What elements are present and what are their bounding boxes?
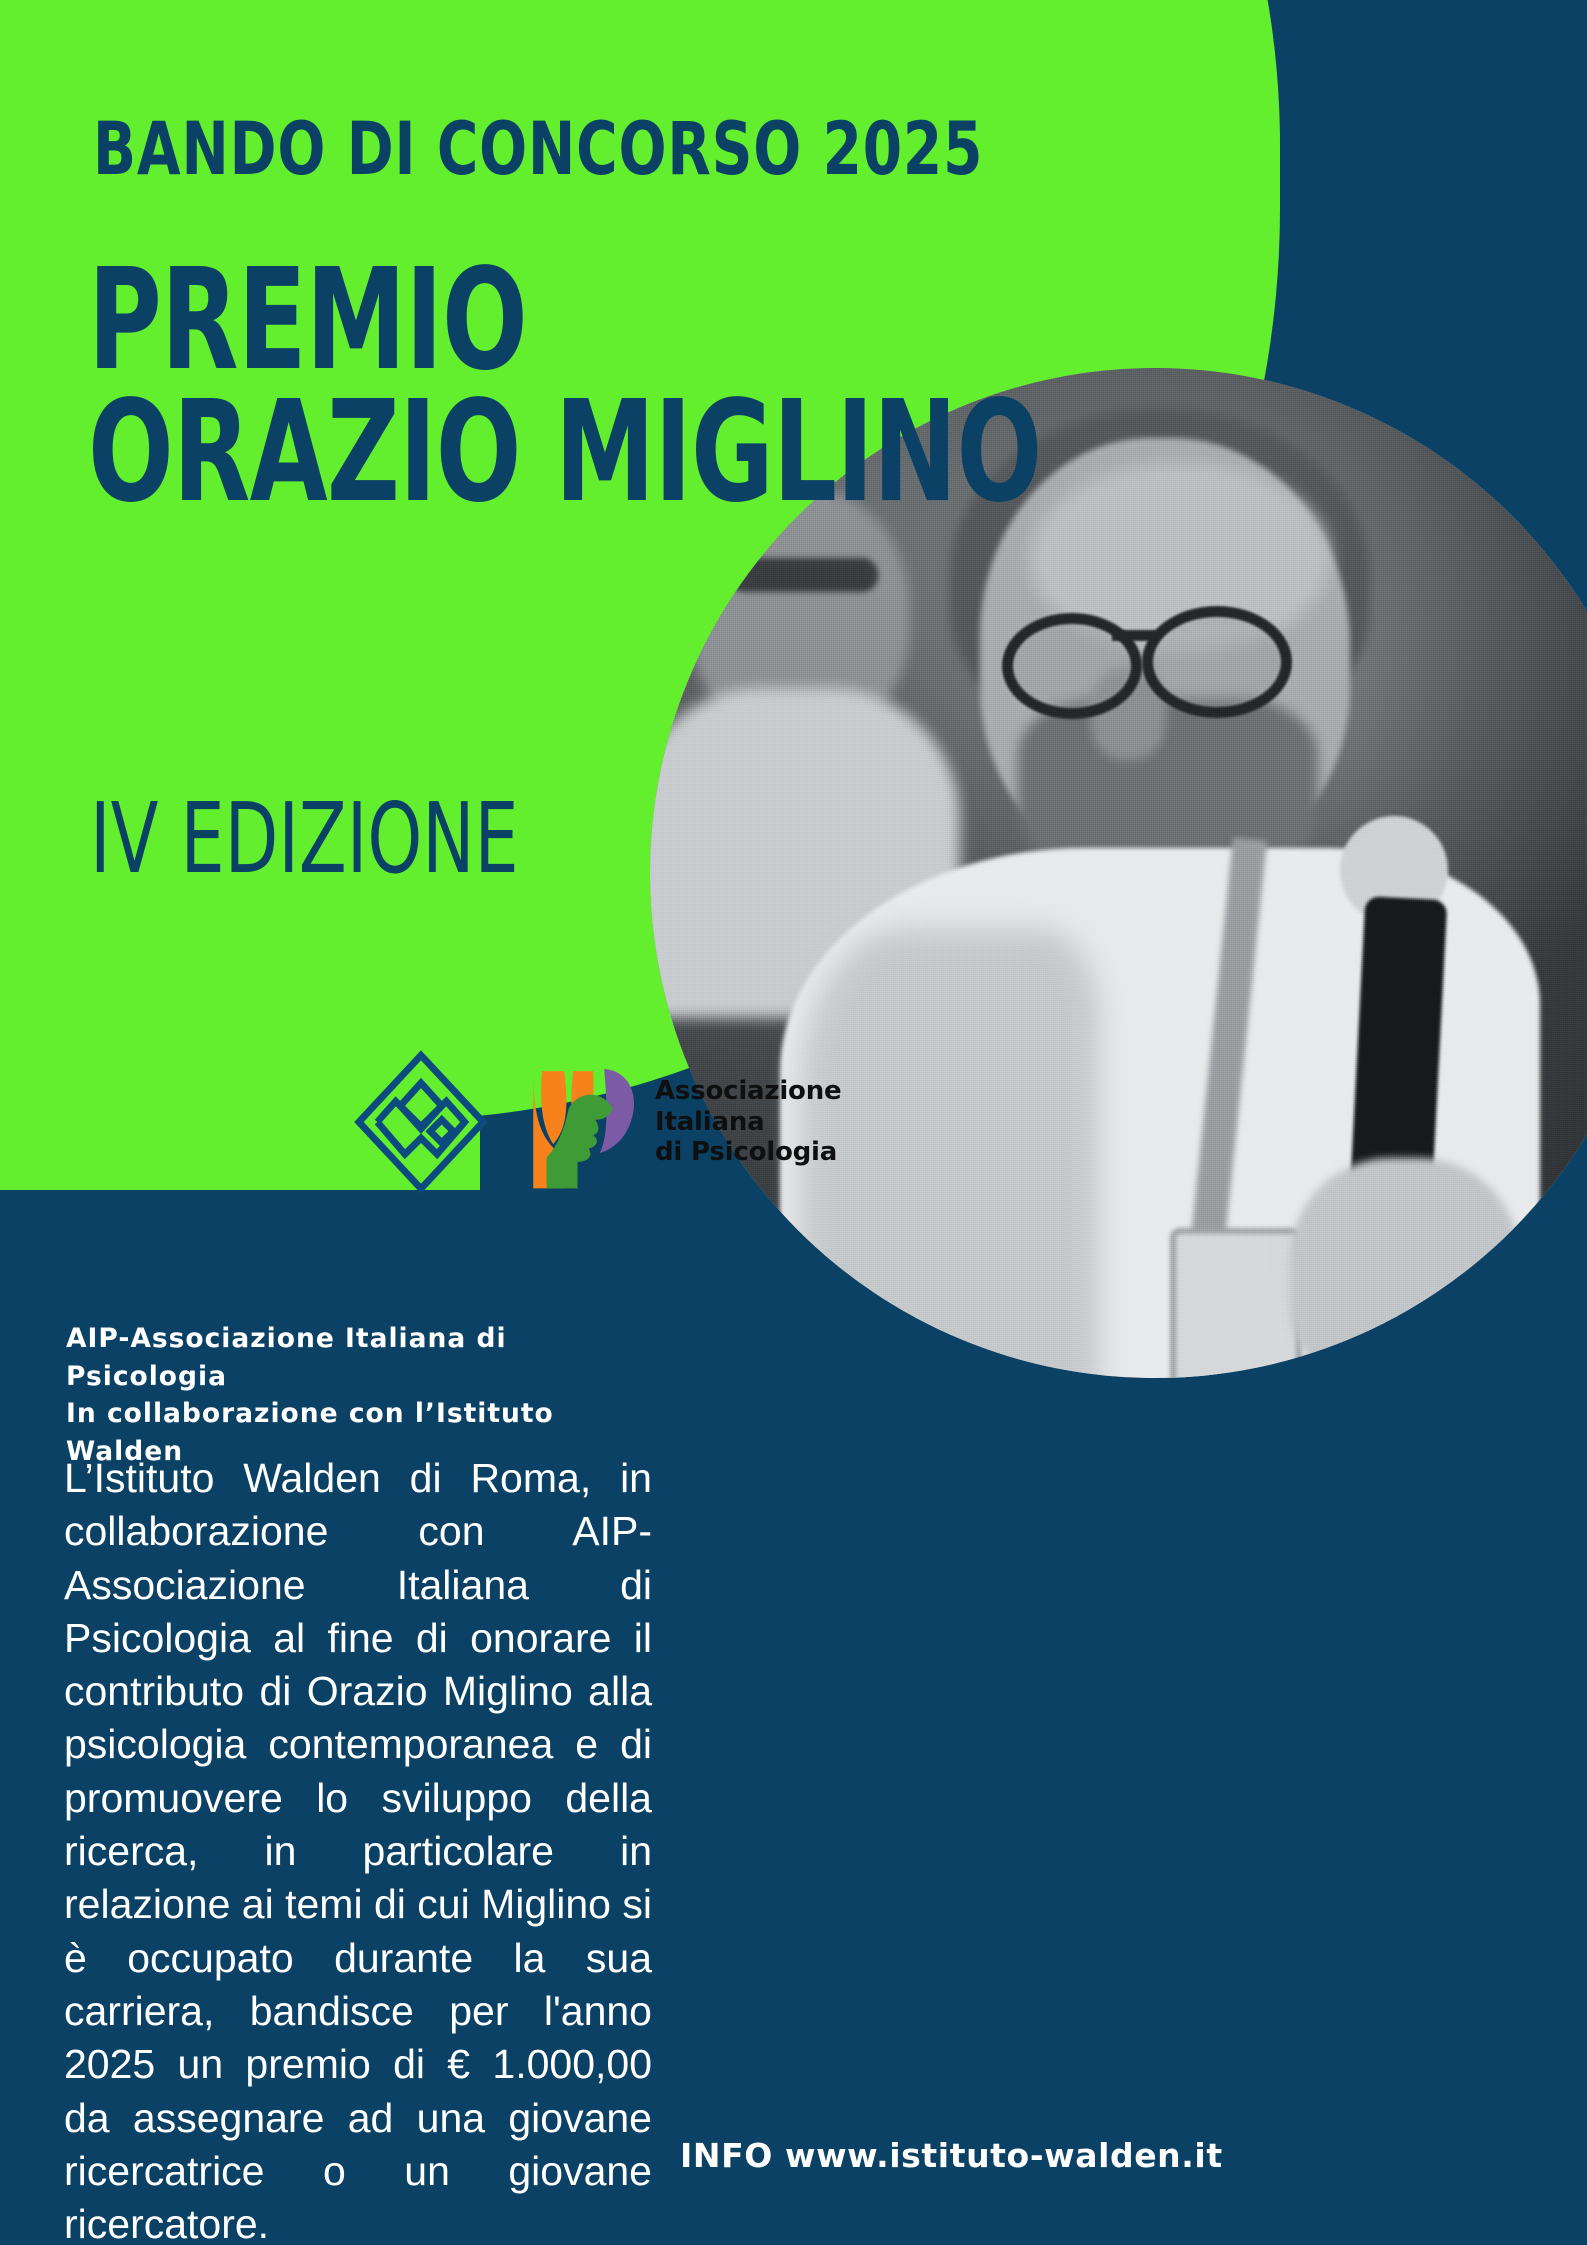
edition-label: IV EDIZIONE <box>90 790 519 887</box>
aip-logo: Associazione Italiana di Psicologia <box>520 1050 841 1194</box>
page-title: PREMIO ORAZIO MIGLINO <box>88 255 1041 518</box>
aip-logo-line-3: di Psicologia <box>655 1137 841 1168</box>
poster-content: BANDO DI CONCORSO 2025 PREMIO ORAZIO MIG… <box>0 0 1587 2245</box>
lead-line-1: AIP-Associazione Italiana di Psicologia <box>66 1320 666 1395</box>
istituto-walden-logo <box>352 1048 490 1196</box>
aip-mark-icon <box>520 1050 644 1194</box>
aip-logo-line-2: Italiana <box>655 1107 841 1138</box>
lead-text: AIP-Associazione Italiana di Psicologia … <box>66 1320 666 1471</box>
kicker-text: BANDO DI CONCORSO 2025 <box>93 113 983 186</box>
poster-root: BANDO DI CONCORSO 2025 PREMIO ORAZIO MIG… <box>0 0 1587 2245</box>
body-paragraph: L’Istituto Walden di Roma, in collaboraz… <box>64 1452 652 2245</box>
logo-row: Associazione Italiana di Psicologia <box>352 1048 841 1196</box>
aip-logo-line-1: Associazione <box>655 1076 841 1107</box>
info-website[interactable]: INFO www.istituto-walden.it <box>680 2136 1223 2175</box>
aip-logo-text: Associazione Italiana di Psicologia <box>655 1076 841 1168</box>
page-title-line-2: ORAZIO MIGLINO <box>88 387 1041 519</box>
